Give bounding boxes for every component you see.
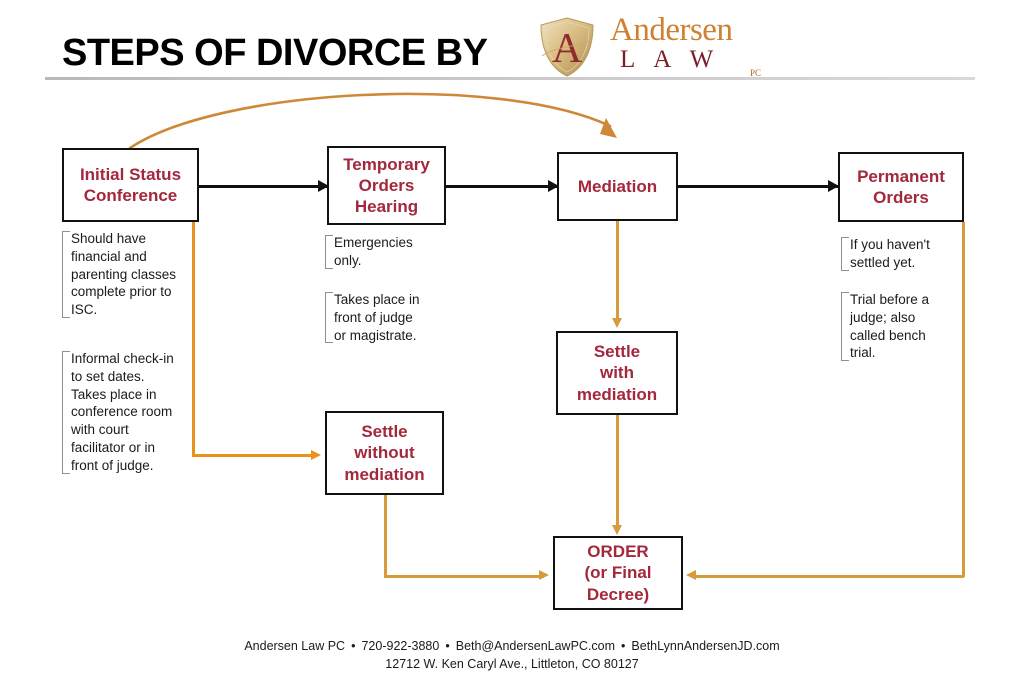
annotation-toh-note-1: Emergencies only. — [325, 234, 430, 270]
edge-settle-with-to-order-arrowhead — [612, 525, 622, 535]
header-divider — [45, 77, 975, 80]
node-mediation-label: Mediation — [574, 176, 661, 197]
page-title: STEPS OF DIVORCE BY — [62, 32, 487, 75]
footer-line-1: Andersen Law PC•720-922-3880•Beth@Anders… — [0, 637, 1024, 655]
edge-po-to-order-arrowhead — [686, 570, 696, 580]
edge-settle-with-to-order — [616, 415, 619, 528]
annotation-toh-note-2: Takes place in front of judge or magistr… — [325, 291, 420, 344]
logo-practice: L A W — [620, 47, 770, 73]
annotation-isc-note-1-text: Should have financial and parenting clas… — [71, 231, 176, 317]
node-order-final-decree-label: ORDER(or FinalDecree) — [580, 541, 655, 605]
footer-separator-3: • — [615, 639, 631, 653]
footer-separator-1: • — [345, 639, 361, 653]
node-settle-with-mediation[interactable]: Settlewithmediation — [556, 331, 678, 415]
edge-mediation-to-settle-with-arrowhead — [612, 318, 622, 328]
andersen-law-logo: A Andersen L A W PC — [536, 14, 766, 80]
edge-toh-to-mediation — [446, 185, 558, 188]
annotation-isc-note-1: Should have financial and parenting clas… — [62, 230, 182, 319]
node-temporary-orders-hearing-label: TemporaryOrdersHearing — [339, 154, 434, 218]
edge-isc-to-toh — [199, 185, 327, 188]
node-permanent-orders[interactable]: PermanentOrders — [838, 152, 964, 222]
annotation-po-note-2-text: Trial before a judge; also called bench … — [850, 292, 929, 360]
edge-settle-without-right-segment — [384, 575, 544, 578]
footer-firm: Andersen Law PC — [244, 639, 345, 653]
logo-wordmark: Andersen L A W — [610, 14, 770, 73]
footer-email[interactable]: Beth@AndersenLawPC.com — [456, 639, 615, 653]
annotation-po-note-1-text: If you haven't settled yet. — [850, 237, 930, 270]
footer-phone[interactable]: 720-922-3880 — [361, 639, 439, 653]
edge-po-left-segment — [694, 575, 964, 578]
annotation-toh-note-2-text: Takes place in front of judge or magistr… — [334, 292, 420, 343]
annotation-isc-note-2-text: Informal check-in to set dates. Takes pl… — [71, 351, 174, 473]
footer-separator-2: • — [439, 639, 455, 653]
edge-isc-right-segment — [192, 454, 316, 457]
node-temporary-orders-hearing[interactable]: TemporaryOrdersHearing — [327, 146, 446, 225]
node-initial-status-conference-label: Initial StatusConference — [76, 164, 185, 207]
edge-mediation-to-settle-with — [616, 221, 619, 321]
node-permanent-orders-label: PermanentOrders — [853, 166, 949, 209]
edge-isc-down-segment — [192, 222, 195, 455]
annotation-toh-note-1-text: Emergencies only. — [334, 235, 413, 268]
node-settle-without-mediation-label: Settlewithoutmediation — [340, 421, 428, 485]
footer: Andersen Law PC•720-922-3880•Beth@Anders… — [0, 637, 1024, 673]
node-order-final-decree[interactable]: ORDER(or FinalDecree) — [553, 536, 683, 610]
node-initial-status-conference[interactable]: Initial StatusConference — [62, 148, 199, 222]
flowchart-page: STEPS OF DIVORCE BY A Andersen L A W PC — [0, 0, 1024, 683]
logo-name: Andersen — [610, 14, 770, 47]
edge-settle-without-to-order-arrowhead — [539, 570, 549, 580]
annotation-po-note-2: Trial before a judge; also called bench … — [841, 291, 936, 362]
logo-suffix: PC — [750, 68, 761, 78]
edge-settle-without-down-segment — [384, 495, 387, 576]
edge-mediation-to-permanent-orders — [678, 185, 838, 188]
node-settle-with-mediation-label: Settlewithmediation — [573, 341, 661, 405]
annotation-isc-note-2: Informal check-in to set dates. Takes pl… — [62, 350, 182, 475]
footer-line-2: 12712 W. Ken Caryl Ave., Littleton, CO 8… — [0, 655, 1024, 673]
node-settle-without-mediation[interactable]: Settlewithoutmediation — [325, 411, 444, 495]
node-mediation[interactable]: Mediation — [557, 152, 678, 221]
footer-website[interactable]: BethLynnAndersenJD.com — [631, 639, 779, 653]
edge-po-down-segment — [962, 222, 965, 577]
annotation-po-note-1: If you haven't settled yet. — [841, 236, 946, 272]
edge-isc-to-settle-without-arrowhead — [311, 450, 321, 460]
shield-icon: A — [536, 16, 598, 78]
